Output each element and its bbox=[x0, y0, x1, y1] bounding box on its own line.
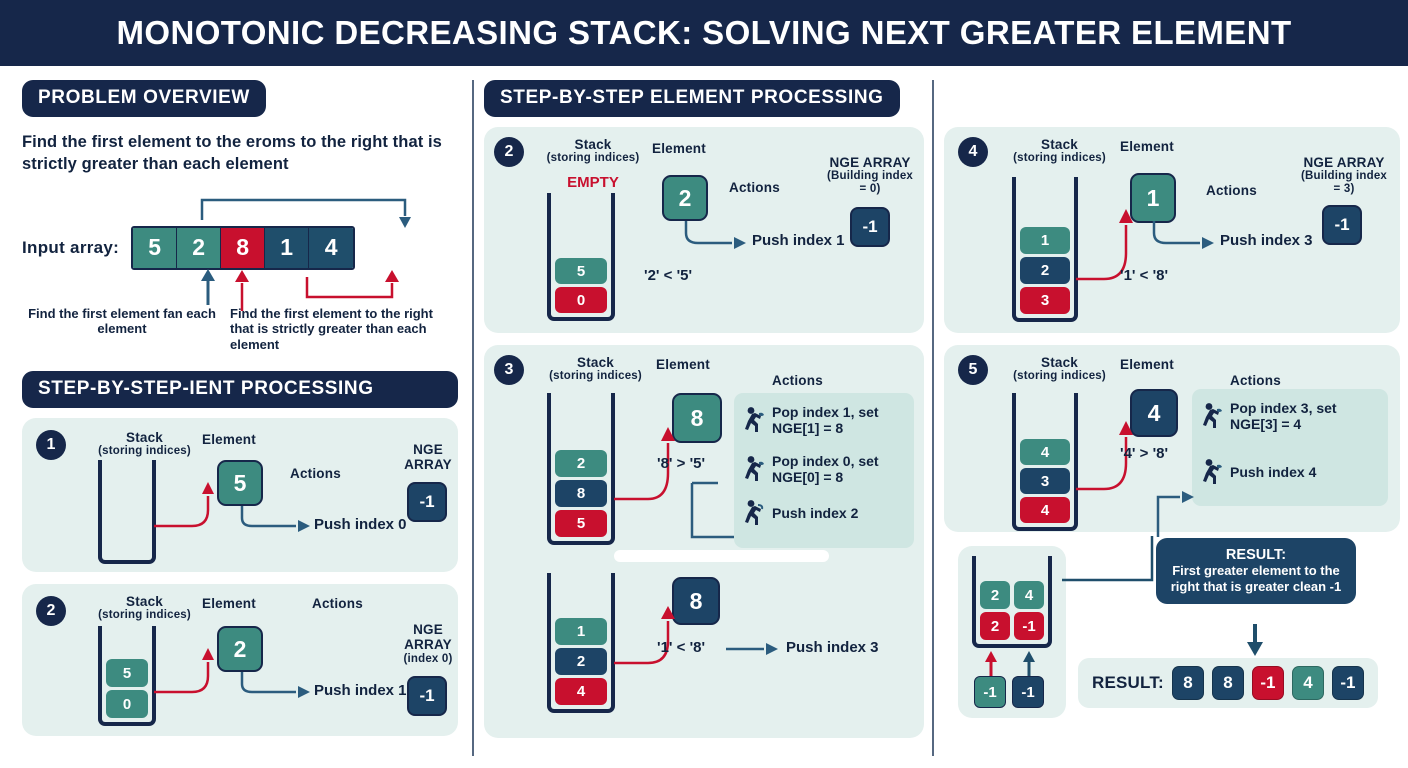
actions-label: Actions bbox=[772, 373, 823, 388]
element-label: Element bbox=[1120, 357, 1174, 372]
nge-value: -1 bbox=[407, 676, 447, 716]
current-element: 5 bbox=[217, 460, 263, 506]
left-step-1-card: 1 Stack (storing indices) Element Action… bbox=[22, 418, 458, 572]
current-element: 8 bbox=[672, 393, 722, 443]
result-cell: -1 bbox=[1252, 666, 1284, 700]
stack-container: 1 2 3 bbox=[1012, 177, 1078, 322]
stack-cell: 5 bbox=[555, 258, 607, 284]
runner-icon bbox=[1201, 402, 1223, 430]
action-item: Push index 4 bbox=[1201, 458, 1379, 486]
separator-strip bbox=[614, 550, 829, 562]
action-text: Push index 3 bbox=[1220, 232, 1313, 249]
stack-cell: 2 bbox=[1020, 257, 1070, 284]
left-section-title: Step-by-Step-ient Processing bbox=[22, 371, 458, 408]
stack-cell: 3 bbox=[1020, 468, 1070, 494]
array-cell: 2 bbox=[177, 228, 221, 268]
actions-label: Actions bbox=[312, 596, 363, 611]
actions-label: Actions bbox=[1206, 183, 1257, 198]
action-arrow bbox=[240, 504, 316, 534]
mid-step-3-card: 3 Stack (storing indices) Element Action… bbox=[484, 345, 924, 738]
stack-cell: -1 bbox=[1014, 612, 1044, 640]
final-below-row: -1 -1 bbox=[974, 676, 1044, 708]
actions-panel: Pop index 1, set NGE[1] = 8 Pop index 0,… bbox=[734, 393, 914, 548]
stack-cell: 2 bbox=[980, 581, 1010, 609]
result-box-title: RESULT: bbox=[1168, 547, 1344, 563]
nge-label: NGE ARRAY (Building index = 3) bbox=[1296, 155, 1392, 196]
actions-panel: Pop index 3, set NGE[3] = 4 Push index 4 bbox=[1192, 389, 1388, 506]
problem-overview-title: Problem Overview bbox=[22, 80, 266, 117]
left-step-2-card: 2 Stack (storing indices) Element Action… bbox=[22, 584, 458, 736]
action-item: Pop index 3, set NGE[3] = 4 bbox=[1201, 400, 1379, 432]
page-title: Monotonic Decreasing Stack: Solving Next… bbox=[117, 14, 1292, 52]
right-column: 4 Stack (storing indices) Element Action… bbox=[934, 66, 1408, 768]
stack-container: 5 0 bbox=[98, 626, 156, 726]
left-column: Problem Overview Find the first element … bbox=[0, 66, 472, 768]
nge-value: -1 bbox=[850, 207, 890, 247]
stack-label: Stack (storing indices) bbox=[538, 137, 648, 165]
result-cell: -1 bbox=[1332, 666, 1364, 700]
final-stack-row-bottom: 2 -1 bbox=[980, 612, 1044, 640]
stack-cell: 4 bbox=[1020, 497, 1070, 523]
final-stack-container: 2 4 2 -1 bbox=[972, 556, 1052, 648]
step-badge: 5 bbox=[958, 355, 988, 385]
nge-label: NGE ARRAY (index 0) bbox=[394, 622, 462, 665]
stack-cell: 3 bbox=[1020, 287, 1070, 314]
comparison-text: '8' > '5' bbox=[657, 455, 705, 472]
runner-icon bbox=[743, 499, 765, 527]
stack-label: Stack (storing indices) bbox=[538, 355, 653, 383]
nge-label: NGE ARRAY (Building index = 0) bbox=[824, 155, 916, 196]
array-cell: 8 bbox=[221, 228, 265, 268]
step-badge: 1 bbox=[36, 430, 66, 460]
array-cell: 5 bbox=[133, 228, 177, 268]
result-explanation-box: RESULT: First greater element to the rig… bbox=[1156, 538, 1356, 604]
sub-element: 8 bbox=[672, 577, 720, 625]
result-cell: 8 bbox=[1212, 666, 1244, 700]
actions-label: Actions bbox=[1230, 373, 1281, 388]
stack-cell: 5 bbox=[106, 659, 148, 687]
comparison-text: '1' < '8' bbox=[1120, 267, 1168, 284]
stack-to-element-arrow bbox=[152, 642, 222, 700]
stack-cell: 1 bbox=[1020, 227, 1070, 254]
overview-arrow-red-left bbox=[217, 267, 307, 313]
overview-caption-left: Find the first element fan each element bbox=[22, 306, 222, 353]
stack-cell: 0 bbox=[106, 690, 148, 718]
action-text: Push index 1 bbox=[752, 232, 845, 249]
right-step-5-card: 5 Stack (storing indices) Element Action… bbox=[944, 345, 1400, 532]
actions-label: Actions bbox=[290, 466, 341, 481]
stack-cell: 2 bbox=[555, 648, 607, 675]
actions-label: Actions bbox=[729, 180, 780, 195]
stack-cell: 4 bbox=[1014, 581, 1044, 609]
content-area: Problem Overview Find the first element … bbox=[0, 66, 1408, 768]
stack-container bbox=[98, 460, 156, 564]
step-badge: 2 bbox=[36, 596, 66, 626]
comparison-text: '4' > '8' bbox=[1120, 445, 1168, 462]
element-label: Element bbox=[202, 596, 256, 611]
action-text: Pop index 1, set NGE[1] = 8 bbox=[772, 404, 905, 436]
result-cell: 4 bbox=[1292, 666, 1324, 700]
action-text: Push index 4 bbox=[1230, 464, 1316, 480]
right-step-4-card: 4 Stack (storing indices) Element Action… bbox=[944, 127, 1400, 333]
overview-arrow-red-right bbox=[302, 267, 412, 307]
stack-cell: 4 bbox=[1020, 439, 1070, 465]
stack-label: Stack (storing indices) bbox=[92, 430, 197, 458]
element-label: Element bbox=[656, 357, 710, 372]
mid-step-2-card: 2 Stack (storing indices) EMPTY Element … bbox=[484, 127, 924, 333]
overview-arrow-up-left bbox=[197, 267, 227, 307]
input-array-label: Input array: bbox=[22, 238, 119, 257]
result-box-text: First greater element to the right that … bbox=[1168, 563, 1344, 595]
step-badge: 4 bbox=[958, 137, 988, 167]
runner-icon bbox=[743, 455, 765, 483]
action-arrow bbox=[684, 219, 754, 253]
array-cell: 4 bbox=[309, 228, 353, 268]
sub-action-text: Push index 3 bbox=[786, 639, 879, 656]
sub-comparison-text: '1' < '8' bbox=[657, 639, 705, 656]
element-label: Element bbox=[652, 141, 706, 156]
result-strip: RESULT: 8 8 -1 4 -1 bbox=[1078, 658, 1378, 708]
current-element: 1 bbox=[1130, 173, 1176, 223]
stack-label: Stack (storing indices) bbox=[92, 594, 197, 622]
final-area: 2 4 2 -1 -1 - bbox=[944, 536, 1398, 720]
nge-value: -1 bbox=[1322, 205, 1362, 245]
result-down-arrow bbox=[1242, 624, 1272, 658]
action-text: Push index 0 bbox=[314, 516, 407, 533]
stack-label: Stack (storing indices) bbox=[1002, 355, 1117, 383]
stack-cell: 4 bbox=[555, 678, 607, 705]
array-cell: 1 bbox=[265, 228, 309, 268]
sub-stack-container: 1 2 4 bbox=[547, 573, 615, 713]
action-item: Push index 2 bbox=[743, 499, 905, 527]
mid-section-title: Step-by-Step Element Processing bbox=[484, 80, 900, 117]
page-header: Monotonic Decreasing Stack: Solving Next… bbox=[0, 0, 1408, 66]
final-arrow-navy bbox=[1020, 650, 1044, 678]
nge-label: NGE ARRAY bbox=[397, 442, 459, 472]
stack-cell: 0 bbox=[555, 287, 607, 313]
element-label: Element bbox=[1120, 139, 1174, 154]
middle-column: Step-by-Step Element Processing 2 Stack … bbox=[472, 66, 934, 768]
element-label: Element bbox=[202, 432, 256, 447]
final-stack-card: 2 4 2 -1 -1 - bbox=[958, 546, 1066, 718]
nge-value: -1 bbox=[407, 482, 447, 522]
result-cell: 8 bbox=[1172, 666, 1204, 700]
current-element: 4 bbox=[1130, 389, 1178, 437]
result-label: RESULT: bbox=[1092, 673, 1164, 692]
below-cell: -1 bbox=[1012, 676, 1044, 708]
step-badge: 3 bbox=[494, 355, 524, 385]
step-badge: 2 bbox=[494, 137, 524, 167]
stack-to-element-arrow bbox=[152, 476, 222, 534]
problem-description: Find the first element to the eroms to t… bbox=[22, 131, 458, 176]
stack-state-empty: EMPTY bbox=[538, 174, 648, 191]
current-element: 2 bbox=[662, 175, 708, 221]
sub-action-arrow bbox=[724, 639, 782, 659]
runner-icon bbox=[743, 406, 765, 434]
action-text: Pop index 3, set NGE[3] = 4 bbox=[1230, 400, 1379, 432]
input-array: 5 2 8 1 4 bbox=[131, 226, 355, 270]
overview-caption-right: Find the first element to the right that… bbox=[230, 306, 445, 353]
comparison-text: '2' < '5' bbox=[644, 267, 692, 284]
stack-cell: 2 bbox=[555, 450, 607, 477]
runner-icon bbox=[1201, 458, 1223, 486]
action-item: Pop index 0, set NGE[0] = 8 bbox=[743, 453, 905, 485]
current-element: 2 bbox=[217, 626, 263, 672]
final-arrow-red bbox=[982, 650, 1006, 678]
stack-label: Stack (storing indices) bbox=[1002, 137, 1117, 165]
below-cell: -1 bbox=[974, 676, 1006, 708]
stack-container: 2 8 5 bbox=[547, 393, 615, 545]
stack-cell: 2 bbox=[980, 612, 1010, 640]
action-item: Pop index 1, set NGE[1] = 8 bbox=[743, 404, 905, 436]
stack-cell: 1 bbox=[555, 618, 607, 645]
action-arrow bbox=[1152, 219, 1222, 253]
action-text: Pop index 0, set NGE[0] = 8 bbox=[772, 453, 905, 485]
action-arrow bbox=[240, 670, 316, 700]
action-text: Push index 2 bbox=[772, 505, 858, 521]
action-text: Push index 1 bbox=[314, 682, 407, 699]
stack-cell: 5 bbox=[555, 510, 607, 537]
final-stack-row-top: 2 4 bbox=[980, 581, 1044, 609]
stack-container: 5 0 bbox=[547, 193, 615, 321]
stack-container: 4 3 4 bbox=[1012, 393, 1078, 531]
stack-cell: 8 bbox=[555, 480, 607, 507]
